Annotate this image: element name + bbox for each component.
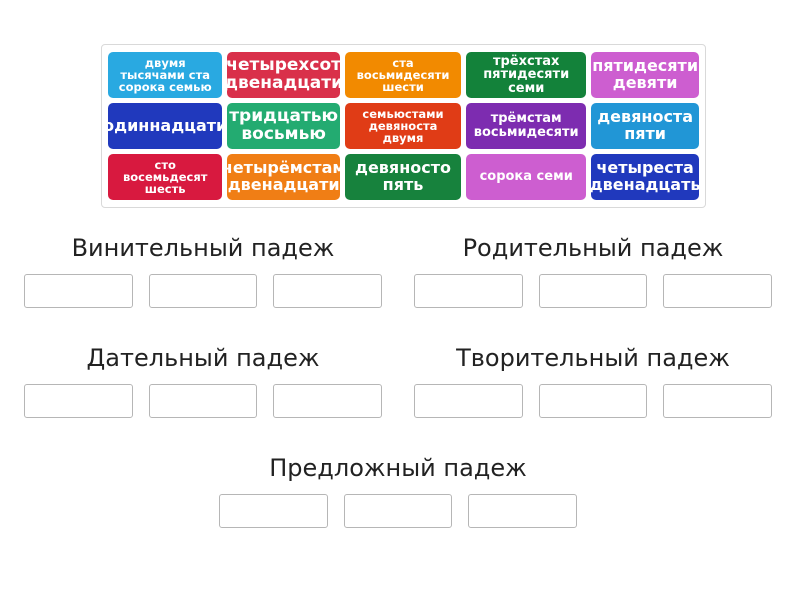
category-group: Творительный падеж xyxy=(414,344,772,418)
drop-slot[interactable] xyxy=(273,274,382,308)
draggable-word-tile[interactable]: трёмстам восьмидесяти xyxy=(466,103,586,149)
drop-slot[interactable] xyxy=(149,384,258,418)
drop-slot-row xyxy=(24,274,382,308)
drop-slot[interactable] xyxy=(539,384,648,418)
drop-slot[interactable] xyxy=(539,274,648,308)
drop-slot[interactable] xyxy=(663,384,772,418)
word-bank-row: одиннадцатитридцатью восьмьюсемьюстами д… xyxy=(108,103,699,149)
drop-slot-row xyxy=(219,494,577,528)
category-group: Предложный падеж xyxy=(219,454,577,528)
draggable-word-tile[interactable]: четырехсот двенадцати xyxy=(227,52,339,98)
drop-slot[interactable] xyxy=(219,494,328,528)
word-bank-row: двумя тысячами ста сорока семьючетырехсо… xyxy=(108,52,699,98)
category-title: Предложный падеж xyxy=(219,454,577,482)
draggable-word-tile[interactable]: девяносто пять xyxy=(345,154,461,200)
category-title: Творительный падеж xyxy=(414,344,772,372)
drop-slot[interactable] xyxy=(24,274,133,308)
draggable-word-tile[interactable]: семьюстами девяноста двумя xyxy=(345,103,461,149)
draggable-word-tile[interactable]: сто восемьдесят шесть xyxy=(108,154,222,200)
category-title: Дательный падеж xyxy=(24,344,382,372)
drop-slot-row xyxy=(414,274,772,308)
drop-slot[interactable] xyxy=(414,274,523,308)
draggable-word-tile[interactable]: трёхстах пятидесяти семи xyxy=(466,52,586,98)
drop-slot-row xyxy=(414,384,772,418)
drop-slot[interactable] xyxy=(273,384,382,418)
drop-slot[interactable] xyxy=(24,384,133,418)
word-bank: двумя тысячами ста сорока семьючетырехсо… xyxy=(101,44,706,208)
drop-slot[interactable] xyxy=(414,384,523,418)
drop-slot[interactable] xyxy=(468,494,577,528)
category-group: Винительный падеж xyxy=(24,234,382,308)
drop-slot[interactable] xyxy=(149,274,258,308)
drop-slot-row xyxy=(24,384,382,418)
category-group: Дательный падеж xyxy=(24,344,382,418)
category-group: Родительный падеж xyxy=(414,234,772,308)
draggable-word-tile[interactable]: одиннадцати xyxy=(108,103,222,149)
draggable-word-tile[interactable]: тридцатью восьмью xyxy=(227,103,339,149)
activity-canvas: двумя тысячами ста сорока семьючетырехсо… xyxy=(0,0,800,600)
draggable-word-tile[interactable]: четыреста двенадцать xyxy=(591,154,699,200)
drop-slot[interactable] xyxy=(344,494,453,528)
category-title: Винительный падеж xyxy=(24,234,382,262)
draggable-word-tile[interactable]: ста восьмидесяти шести xyxy=(345,52,461,98)
word-bank-row: сто восемьдесят шестьчетырёмстам двенадц… xyxy=(108,154,699,200)
draggable-word-tile[interactable]: пятидесяти девяти xyxy=(591,52,699,98)
category-title: Родительный падеж xyxy=(414,234,772,262)
drop-slot[interactable] xyxy=(663,274,772,308)
draggable-word-tile[interactable]: четырёмстам двенадцати xyxy=(227,154,339,200)
draggable-word-tile[interactable]: девяноста пяти xyxy=(591,103,699,149)
draggable-word-tile[interactable]: сорока семи xyxy=(466,154,586,200)
draggable-word-tile[interactable]: двумя тысячами ста сорока семью xyxy=(108,52,222,98)
